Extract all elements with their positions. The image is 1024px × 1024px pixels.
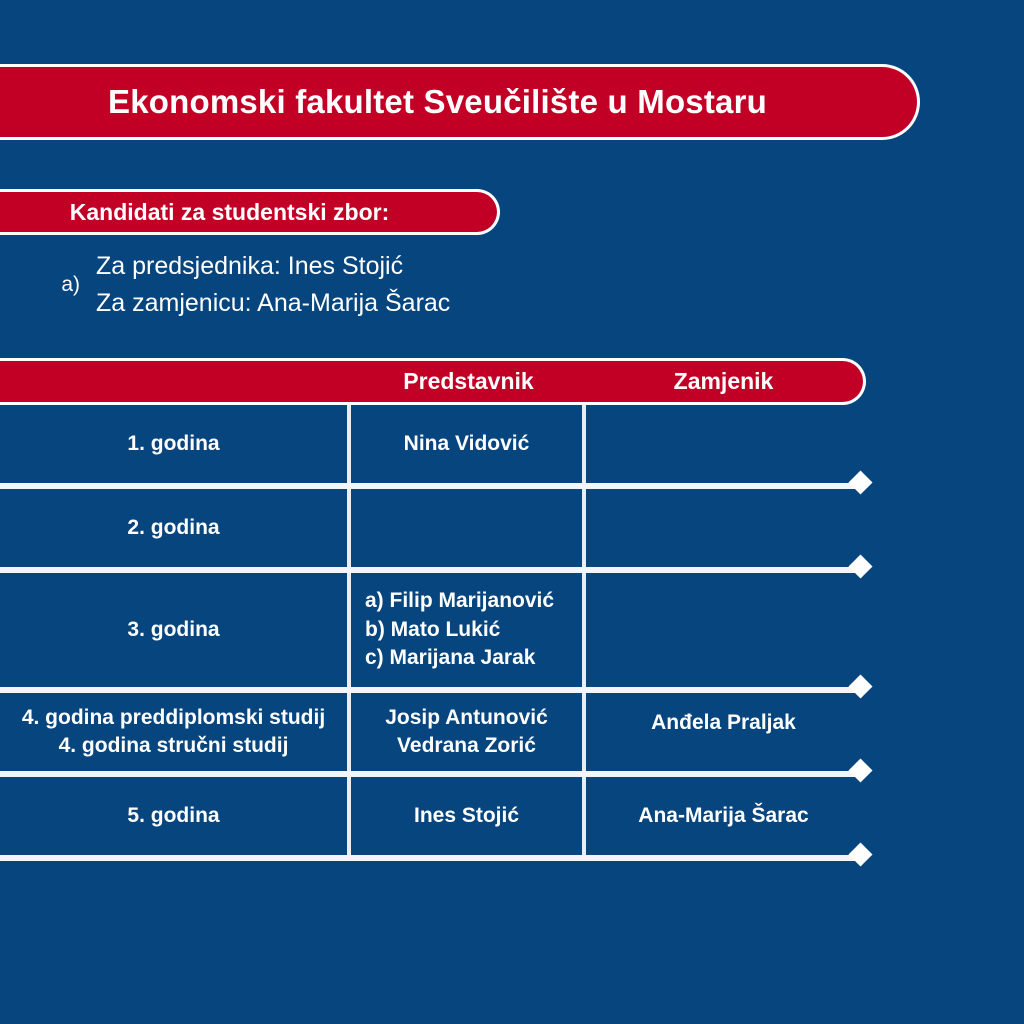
section-subtitle-banner: Kandidati za studentski zbor: xyxy=(0,189,500,235)
table-cell-year-line2: 4. godina stručni studij xyxy=(59,732,289,760)
table-header-predstavnik: Predstavnik xyxy=(351,361,586,402)
section-subtitle: Kandidati za studentski zbor: xyxy=(70,199,389,226)
table-cell-year: 3. godina xyxy=(0,573,351,687)
table-cell-predstavnik-line1: Josip Antunović xyxy=(385,704,548,732)
page-title: Ekonomski fakultet Sveučilište u Mostaru xyxy=(108,83,767,121)
table-cell-predstavnik-option-a: a) Filip Marijanović xyxy=(365,587,554,615)
table-cell-predstavnik: Ines Stojić xyxy=(351,777,586,855)
candidate-president: Za predsjednika: Ines Stojić xyxy=(96,250,450,283)
table-cell-predstavnik: Nina Vidović xyxy=(351,405,586,483)
table-cell-zamjenik xyxy=(586,573,861,687)
table-cell-zamjenik: Ana-Marija Šarac xyxy=(586,777,861,855)
candidate-list-marker: a) xyxy=(0,273,96,297)
table-cell-year: 1. godina xyxy=(0,405,351,483)
page-title-banner: Ekonomski fakultet Sveučilište u Mostaru xyxy=(0,64,920,140)
table-header-row: Predstavnik Zamjenik xyxy=(0,358,866,405)
table-cell-zamjenik: Anđela Praljak xyxy=(586,693,861,771)
table-cell-year: 2. godina xyxy=(0,489,351,567)
table-cell-predstavnik-option-b: b) Mato Lukić xyxy=(365,616,500,644)
candidate-list: a) Za predsjednika: Ines Stojić Za zamje… xyxy=(0,250,700,319)
table-header-zamjenik: Zamjenik xyxy=(586,361,861,402)
table-cell-predstavnik xyxy=(351,489,586,567)
table-row: 5. godina Ines Stojić Ana-Marija Šarac xyxy=(0,777,861,855)
table-cell-predstavnik: a) Filip Marijanović b) Mato Lukić c) Ma… xyxy=(351,573,586,687)
table-bottom-separator xyxy=(0,855,861,861)
representatives-table: Predstavnik Zamjenik 1. godina Nina Vido… xyxy=(0,358,1024,861)
table-cell-predstavnik-line2: Vedrana Zorić xyxy=(397,732,536,760)
table-row: 3. godina a) Filip Marijanović b) Mato L… xyxy=(0,573,861,687)
table-cell-predstavnik-option-c: c) Marijana Jarak xyxy=(365,644,535,672)
row-separator-bar xyxy=(0,855,861,861)
table-row: 2. godina xyxy=(0,489,861,567)
candidate-vice-president: Za zamjenicu: Ana-Marija Šarac xyxy=(96,287,450,320)
table-cell-year: 5. godina xyxy=(0,777,351,855)
candidate-list-lines: Za predsjednika: Ines Stojić Za zamjenic… xyxy=(96,250,450,319)
table-row: 4. godina preddiplomski studij 4. godina… xyxy=(0,693,861,771)
table-cell-year-line1: 4. godina preddiplomski studij xyxy=(22,704,325,732)
table-cell-zamjenik xyxy=(586,489,861,567)
table-cell-year: 4. godina preddiplomski studij 4. godina… xyxy=(0,693,351,771)
table-cell-zamjenik xyxy=(586,405,861,483)
table-cell-predstavnik: Josip Antunović Vedrana Zorić xyxy=(351,693,586,771)
table-header-year xyxy=(0,361,351,402)
table-row: 1. godina Nina Vidović xyxy=(0,405,861,483)
